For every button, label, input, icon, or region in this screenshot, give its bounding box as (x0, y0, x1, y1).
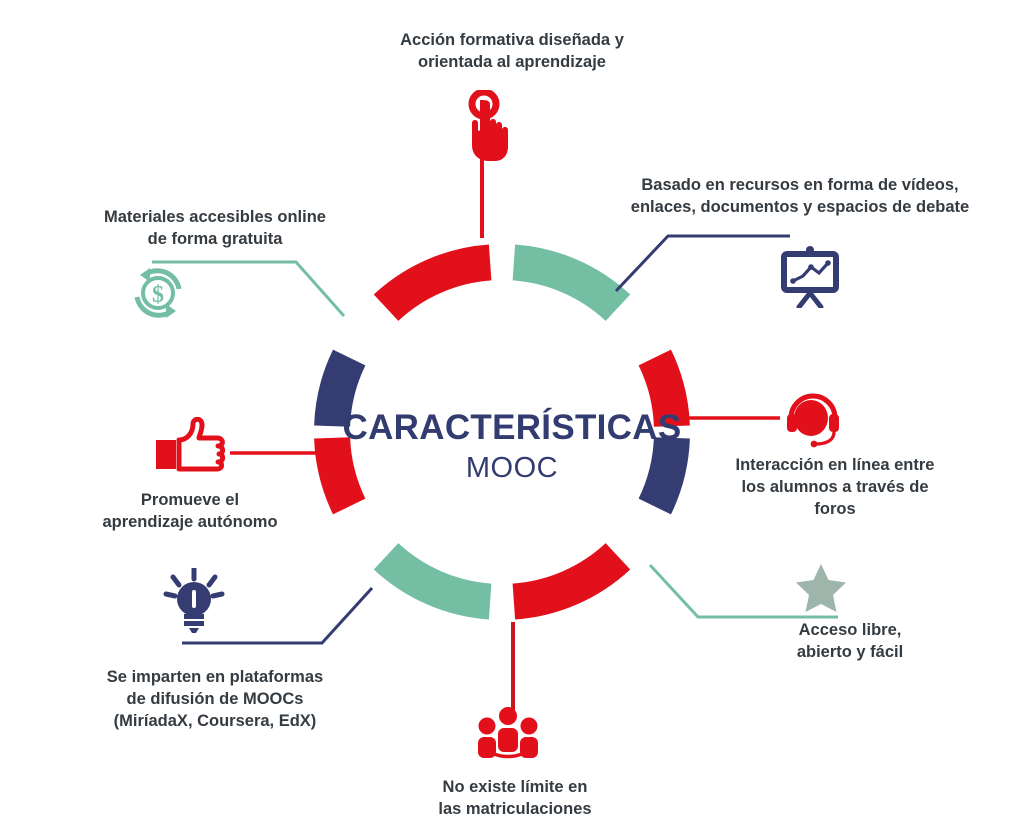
thumbs-up-icon (155, 417, 227, 475)
label-sin-limite: No existe límite en las matriculaciones (385, 777, 645, 821)
center-subtitle: MOOC (262, 452, 762, 485)
star-icon (795, 563, 847, 613)
headset-icon (785, 388, 841, 448)
center-title: CARACTERÍSTICAS (262, 408, 762, 448)
label-materiales: Materiales accesibles online de forma gr… (55, 207, 375, 251)
connector-top-right (616, 236, 790, 291)
svg-text:$: $ (152, 282, 164, 308)
label-recursos: Basado en recursos en forma de vídeos, e… (600, 175, 1000, 219)
money-refresh-icon: $ (128, 265, 188, 323)
infographic-canvas: CARACTERÍSTICAS MOOC (0, 0, 1024, 837)
tap-hand-icon (455, 90, 513, 162)
lightbulb-icon (163, 568, 225, 634)
segment-right-red (374, 244, 492, 320)
presentation-board-icon (778, 246, 842, 308)
label-acceso-libre: Acceso libre, abierto y fácil (740, 620, 960, 664)
label-aprendizaje-autonomo: Promueve el aprendizaje autónomo (55, 490, 325, 534)
label-interaccion: Interacción en línea entre los alumnos a… (700, 455, 970, 521)
segment-right-green (513, 244, 631, 320)
segment-left-red (513, 543, 631, 619)
group-people-icon (477, 707, 539, 761)
segment-left-green (374, 543, 492, 619)
label-plataformas: Se imparten en plataformas de difusión d… (55, 667, 375, 733)
label-accion-formativa: Acción formativa diseñada y orientada al… (312, 30, 712, 74)
